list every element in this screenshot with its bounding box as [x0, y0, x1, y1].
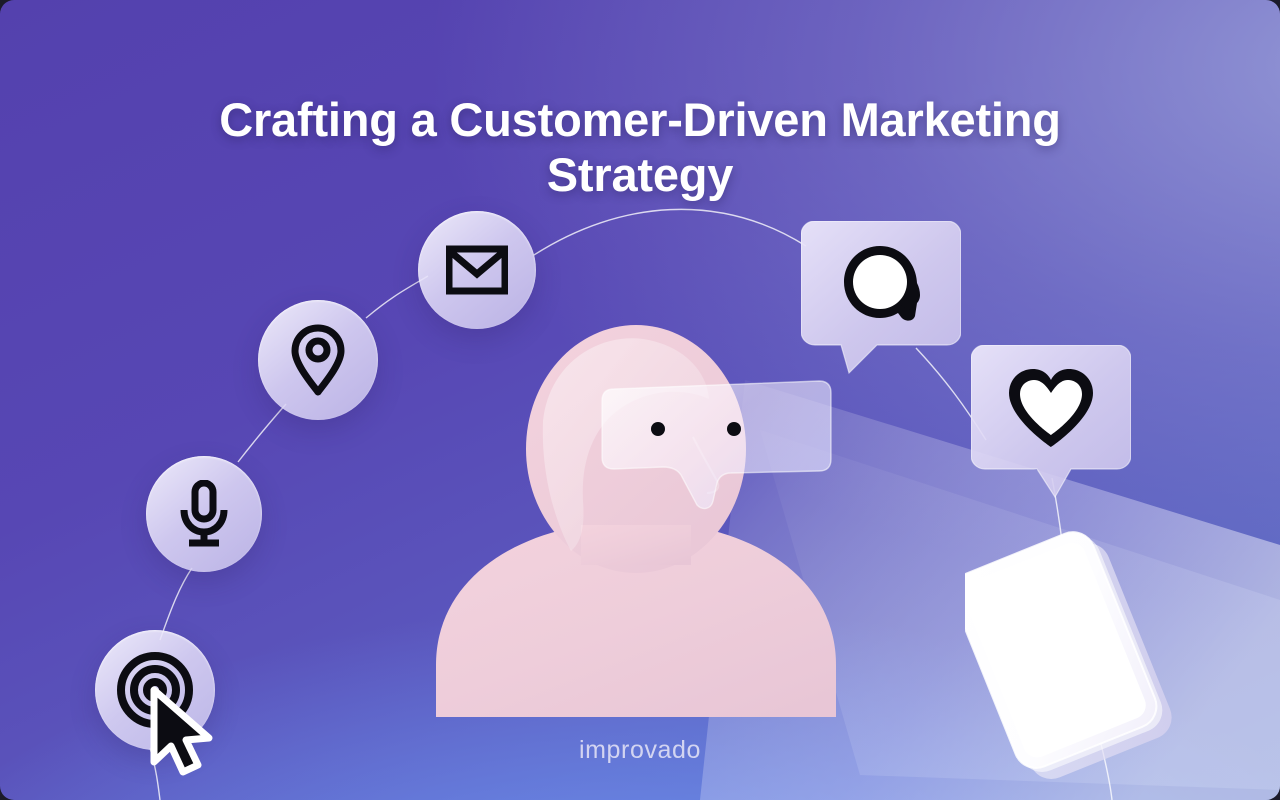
page-title: Crafting a Customer-Driven Marketing Str…	[110, 93, 1170, 202]
heart-icon	[1003, 365, 1099, 451]
location-pin-icon	[290, 324, 346, 396]
brand-logo: improvado	[0, 736, 1280, 765]
hero-banner: Crafting a Customer-Driven Marketing Str…	[0, 0, 1280, 800]
channel-icon-voice[interactable]	[146, 456, 262, 572]
channel-icon-email[interactable]	[418, 211, 536, 329]
envelope-icon	[446, 245, 508, 295]
bubble-card-chat[interactable]	[801, 221, 961, 376]
person-figure	[431, 325, 841, 717]
microphone-icon	[176, 480, 232, 548]
mouse-cursor[interactable]	[148, 686, 222, 783]
channel-icon-location[interactable]	[258, 300, 378, 420]
bubble-card-like[interactable]	[971, 345, 1131, 500]
chat-bubble-icon	[835, 238, 927, 330]
